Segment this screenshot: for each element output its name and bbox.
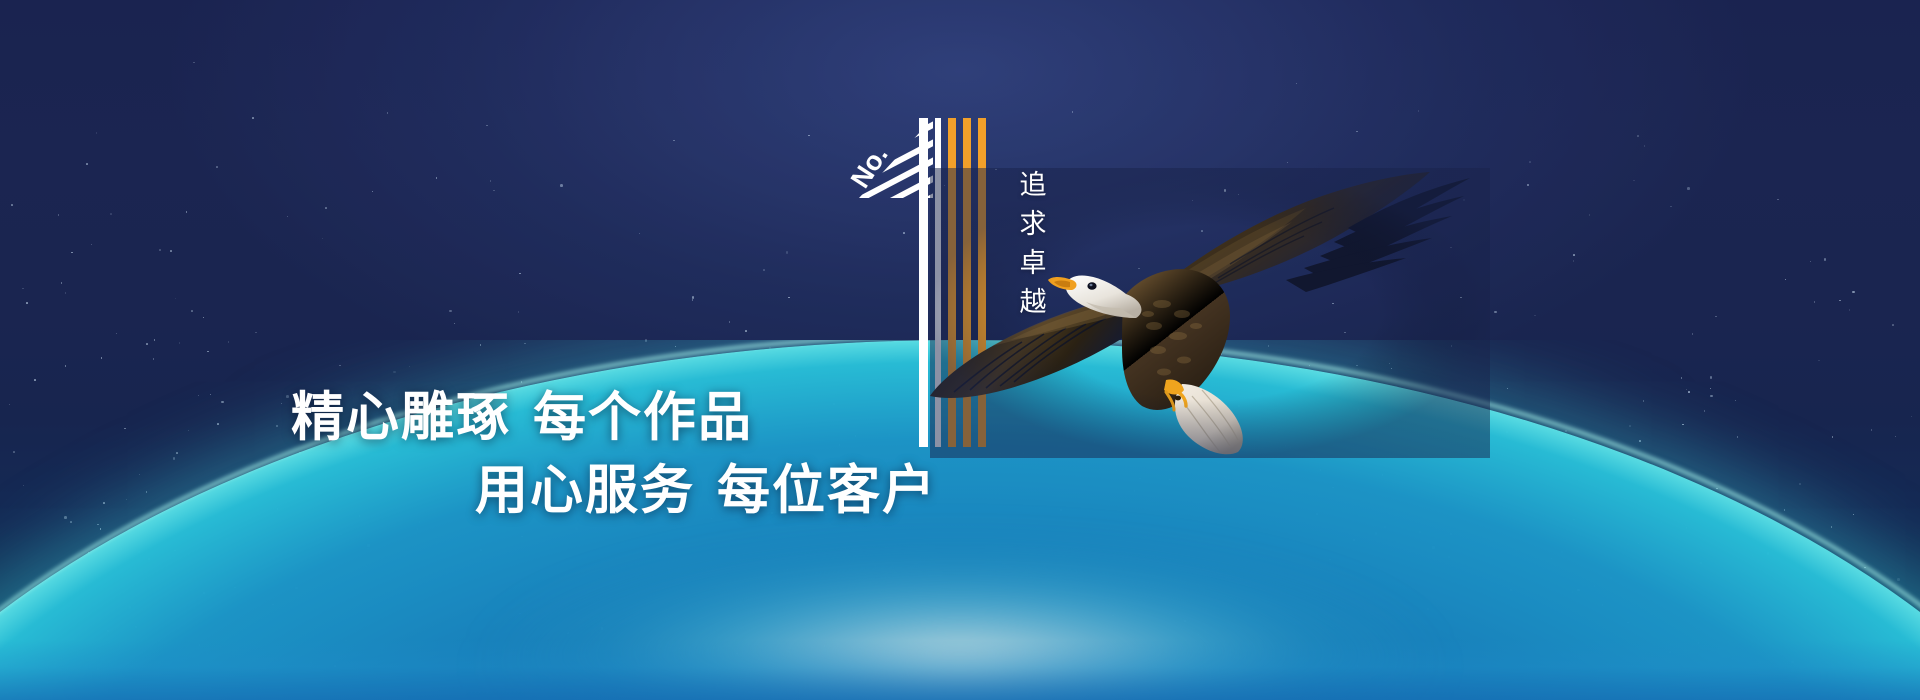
hero-banner: No. bbox=[0, 0, 1920, 700]
vertical-slogan-char-2: 求 bbox=[1020, 211, 1047, 238]
vertical-slogan-char-3: 卓 bbox=[1020, 250, 1047, 277]
no1-logo: No. bbox=[845, 112, 1005, 447]
logo-stripe-5 bbox=[978, 118, 986, 447]
vertical-slogan-char-4: 越 bbox=[1020, 289, 1047, 316]
logo-vertical-stripes bbox=[919, 118, 986, 447]
vertical-slogan-char-1: 追 bbox=[1020, 172, 1047, 199]
logo-stripe-1 bbox=[919, 118, 928, 447]
vertical-slogan: 追 求 卓 越 bbox=[1010, 172, 1056, 316]
logo-stripe-3 bbox=[948, 118, 956, 447]
logo-stripe-2 bbox=[935, 118, 941, 447]
logo-stripe-4 bbox=[963, 118, 971, 447]
